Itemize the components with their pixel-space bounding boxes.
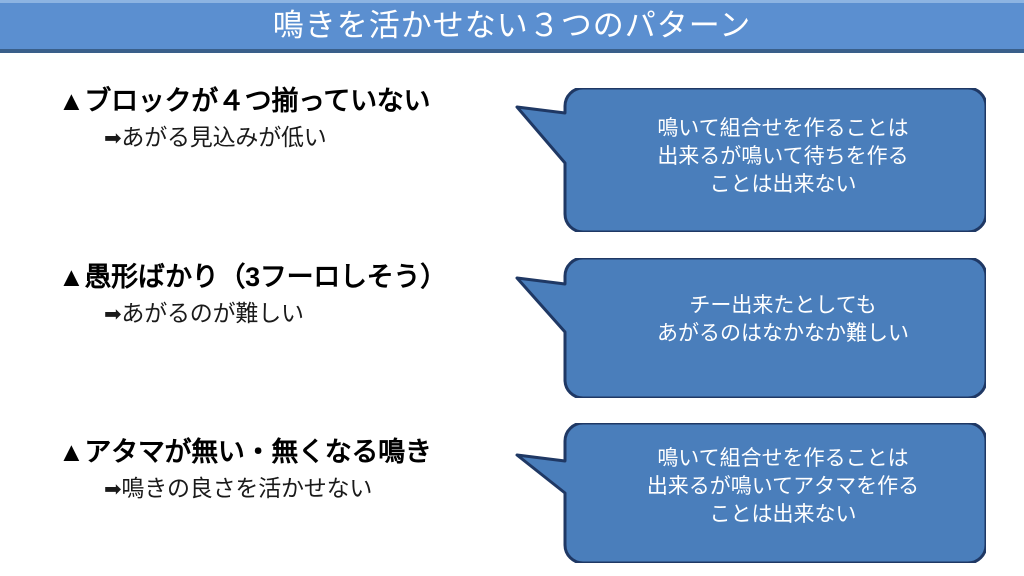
- speech-bubble-shape-1: [514, 88, 986, 232]
- point-block-2: ▲愚形ばかり（3フーロしそう） ➡あがるのが難しい: [58, 262, 528, 327]
- title-banner-inner: 鳴きを活かせない３つのパターン: [0, 3, 1024, 49]
- speech-bubble-shape-2: [514, 258, 986, 398]
- right-arrow-icon: ➡: [104, 302, 121, 326]
- page-title: 鳴きを活かせない３つのパターン: [273, 10, 751, 41]
- point-sub-2: ➡あがるのが難しい: [104, 300, 528, 326]
- slide-title-banner: 鳴きを活かせない３つのパターン: [0, 0, 1024, 53]
- slide-canvas: 鳴きを活かせない３つのパターン ▲ブロックが４つ揃っていない ➡あがる見込みが低…: [0, 0, 1024, 576]
- speech-bubble-3: 鳴いて組合せを作ることは 出来るが鳴いてアタマを作る ことは出来ない: [514, 423, 986, 563]
- speech-bubble-shape-3: [514, 423, 986, 563]
- right-arrow-icon: ➡: [104, 126, 121, 150]
- speech-bubble-1: 鳴いて組合せを作ることは 出来るが鳴いて待ちを作る ことは出来ない: [514, 88, 986, 232]
- speech-bubble-2: チー出来たとしても あがるのはなかなか難しい: [514, 258, 986, 398]
- point-heading-2: ▲愚形ばかり（3フーロしそう）: [58, 262, 528, 292]
- point-heading-1: ▲ブロックが４つ揃っていない: [58, 86, 528, 116]
- point-block-1: ▲ブロックが４つ揃っていない ➡あがる見込みが低い: [58, 86, 528, 151]
- point-sub-1: ➡あがる見込みが低い: [104, 124, 528, 150]
- point-sub-text-3: 鳴きの良さを活かせない: [121, 475, 372, 501]
- right-arrow-icon: ➡: [104, 477, 121, 501]
- point-heading-3: ▲アタマが無い・無くなる鳴き: [58, 437, 528, 467]
- point-block-3: ▲アタマが無い・無くなる鳴き ➡鳴きの良さを活かせない: [58, 437, 528, 502]
- point-sub-text-2: あがるのが難しい: [121, 300, 303, 326]
- point-sub-text-1: あがる見込みが低い: [121, 124, 326, 150]
- point-sub-3: ➡鳴きの良さを活かせない: [104, 475, 528, 501]
